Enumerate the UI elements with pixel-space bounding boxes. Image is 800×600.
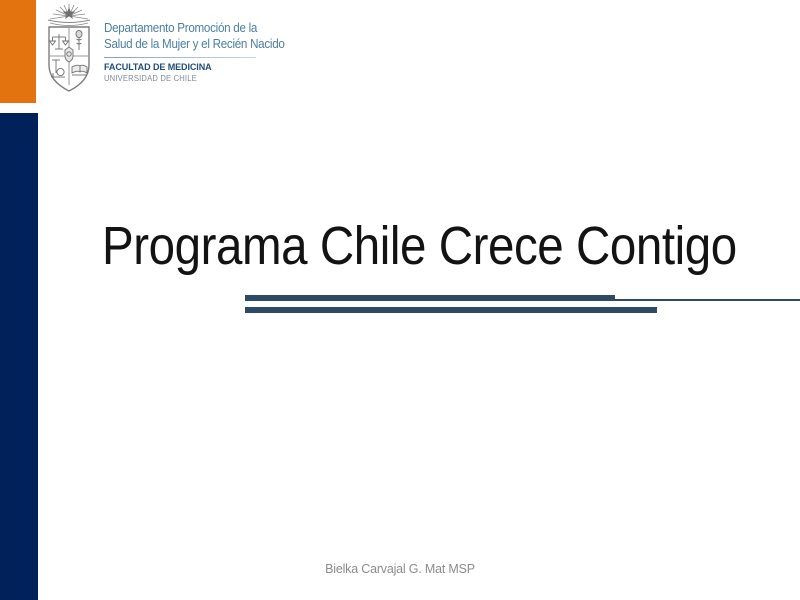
title-underline-upper	[245, 295, 615, 301]
institution-text-block: Departamento Promoción de la Salud de la…	[104, 3, 298, 83]
orange-accent-bar	[0, 0, 36, 103]
faculty-label: FACULTAD DE MEDICINA	[104, 62, 288, 73]
title-underline-lower	[245, 307, 657, 313]
department-line-2: Salud de la Mujer y el Recién Nacido	[104, 37, 285, 53]
institution-logo-block: Departamento Promoción de la Salud de la…	[40, 3, 298, 100]
department-line-1: Departamento Promoción de la	[104, 21, 285, 37]
crest-star	[63, 7, 76, 19]
universidad-de-chile-crest-icon	[40, 3, 98, 100]
navy-accent-bar	[0, 113, 38, 600]
presentation-slide: Departamento Promoción de la Salud de la…	[0, 0, 800, 600]
university-label: UNIVERSIDAD DE CHILE	[104, 74, 288, 83]
slide-title: Programa Chile Crece Contigo	[102, 214, 718, 278]
author-credit: Bielka Carvajal G. Mat MSP	[0, 562, 800, 576]
logo-divider	[104, 57, 256, 58]
